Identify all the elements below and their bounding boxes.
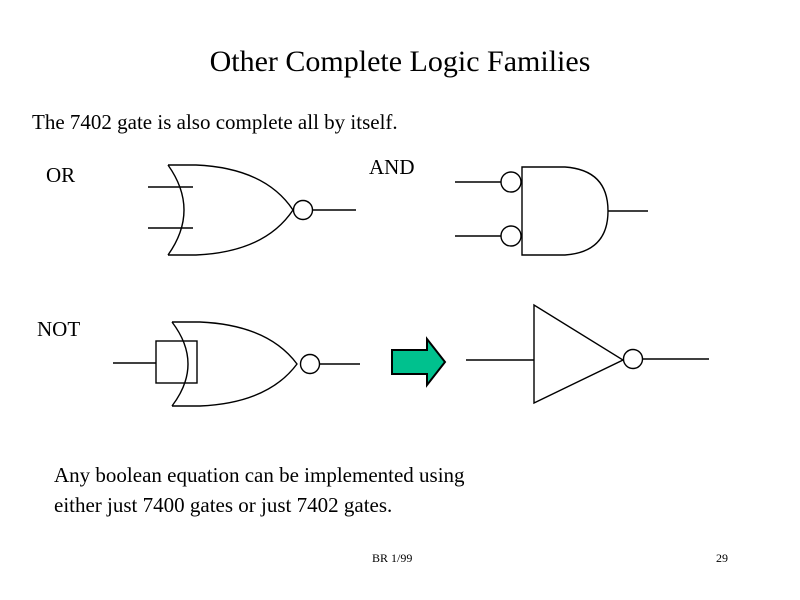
figure-inverter — [466, 305, 709, 403]
and-gate-input-bubble-top-icon — [501, 172, 521, 192]
right-arrow-icon — [392, 339, 445, 385]
not-nor-gate-input-tie-box — [156, 341, 197, 383]
gate-label-not: NOT — [37, 317, 80, 342]
figure-nor-gate-or-row — [148, 165, 356, 255]
conclusion-line-1: Any boolean equation can be implemented … — [54, 463, 465, 487]
conclusion-text: Any boolean equation can be implemented … — [54, 461, 465, 521]
gate-label-and: AND — [369, 155, 415, 180]
conclusion-line-2: either just 7400 gates or just 7402 gate… — [54, 493, 392, 517]
figure-equivalence-arrow — [392, 339, 445, 385]
page-title: Other Complete Logic Families — [0, 44, 800, 79]
and-gate-body-outline — [522, 167, 608, 255]
and-gate-input-bubble-bottom-icon — [501, 226, 521, 246]
gate-label-or: OR — [46, 163, 75, 188]
nor-gate-body-outline — [168, 165, 293, 255]
footer-credit: BR 1/99 — [372, 551, 412, 565]
nor-gate-output-bubble-icon — [294, 201, 313, 220]
inverter-triangle-body — [534, 305, 623, 403]
footer-page-number: 29 — [716, 551, 728, 565]
figure-and-gate-inverted-inputs — [455, 167, 648, 255]
not-nor-gate-output-bubble-icon — [301, 355, 320, 374]
inverter-output-bubble-icon — [624, 350, 643, 369]
nor-gate-body-back-arc — [168, 165, 184, 255]
slide-canvas-root: Other Complete Logic Families The 7402 g… — [0, 0, 800, 600]
figure-nor-gate-not-row — [113, 322, 360, 406]
intro-text: The 7402 gate is also complete all by it… — [32, 110, 398, 135]
